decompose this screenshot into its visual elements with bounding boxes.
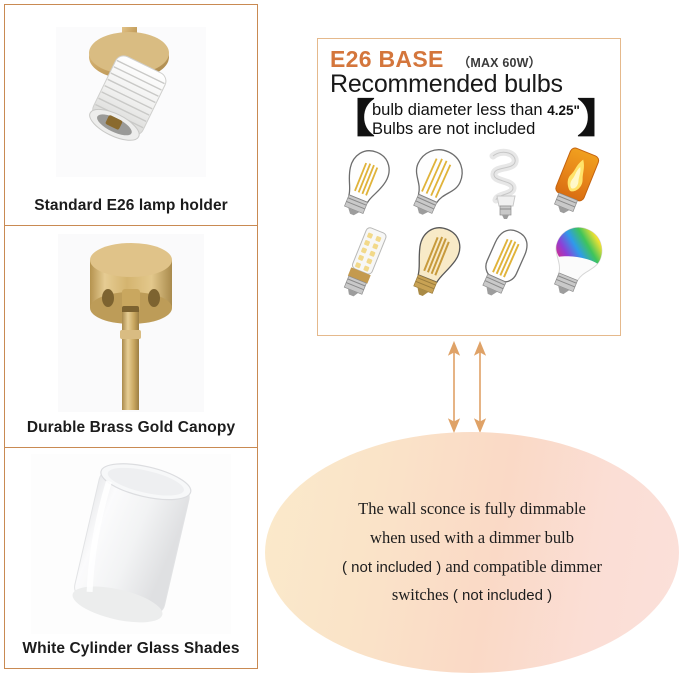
dimmable-line-1: The wall sconce is fully dimmable: [307, 495, 637, 524]
feature-column: Standard E26 lamp holder: [4, 4, 258, 669]
cfl-spiral-bulb-icon: [471, 143, 539, 221]
recommended-bulbs-panel: E26 BASE （MAX 60W） Recommended bulbs 【 b…: [317, 38, 621, 336]
panel-header-row: E26 BASE （MAX 60W）: [330, 47, 610, 71]
dimmable-note-text: The wall sconce is fully dimmable when u…: [307, 495, 637, 611]
brass-gold-canopy-photo: [5, 226, 257, 415]
double-headed-arrows: [437, 341, 497, 433]
bracket-close-icon: 】: [577, 101, 627, 139]
recommended-bulbs-title: Recommended bulbs: [330, 70, 610, 98]
rgb-color-changing-smart-bulb-icon: [541, 222, 609, 300]
lamp-holder-illustration: [56, 27, 206, 177]
bulb-requirements: 【 bulb diameter less than 4.25" Bulbs ar…: [330, 101, 610, 139]
white-cylinder-glass-shade-photo: [5, 448, 257, 637]
bracket-open-icon: 【: [325, 101, 375, 139]
dimmable-line-4: switches ( not included ): [307, 581, 637, 610]
t45-tubular-filament-bulb-icon: [471, 222, 539, 300]
bulbs-not-included-line: Bulbs are not included: [372, 120, 580, 139]
bulb-requirement-lines: bulb diameter less than 4.25" Bulbs are …: [372, 101, 580, 139]
bulb-diameter-line: bulb diameter less than 4.25": [372, 101, 580, 120]
a19-filament-bulb-icon: [401, 143, 469, 221]
glass-shade-illustration: [31, 454, 231, 634]
dimmable-line-2: when used with a dimmer bulb: [307, 524, 637, 553]
feature-cell-glass-shade: White Cylinder Glass Shades: [5, 447, 257, 668]
flame-effect-bulb-icon: [541, 143, 609, 221]
dimmable-note-oval: The wall sconce is fully dimmable when u…: [265, 432, 679, 673]
infographic-root: Standard E26 lamp holder: [0, 0, 679, 673]
feature-caption: White Cylinder Glass Shades: [5, 637, 257, 668]
max-wattage-label: （MAX 60W）: [458, 52, 542, 71]
feature-caption: Durable Brass Gold Canopy: [5, 416, 257, 447]
st64-amber-vintage-bulb-icon: [401, 222, 469, 300]
e26-base-title: E26 BASE: [330, 47, 444, 71]
led-corn-tube-bulb-icon: [331, 222, 399, 300]
bulb-type-grid: [330, 143, 610, 301]
dimmable-line-3: ( not included ) and compatible dimmer: [307, 553, 637, 582]
feature-caption: Standard E26 lamp holder: [5, 194, 257, 225]
feature-cell-lamp-holder: Standard E26 lamp holder: [5, 5, 257, 225]
st64-edison-filament-bulb-icon: [331, 143, 399, 221]
e26-lamp-holder-photo: [5, 5, 257, 194]
feature-cell-canopy: Durable Brass Gold Canopy: [5, 225, 257, 446]
bulb-diameter-value: 4.25": [547, 103, 580, 118]
canopy-illustration: [58, 234, 204, 412]
